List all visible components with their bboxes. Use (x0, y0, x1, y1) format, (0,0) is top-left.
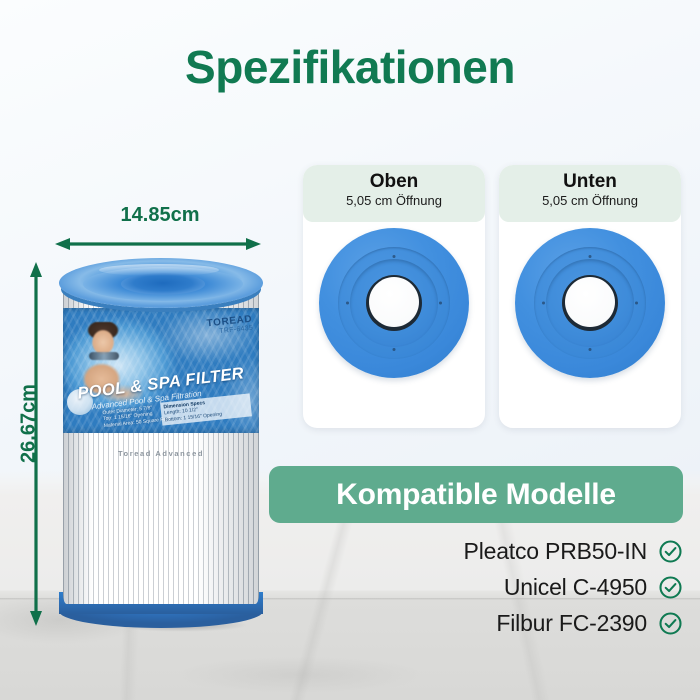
panel-unten-title: Unten (499, 171, 681, 193)
filter-endcap-icon-unten (515, 228, 665, 378)
width-dimension-arrow (55, 237, 261, 251)
label-swimmer-goggles (89, 352, 119, 360)
endcap-opening (369, 277, 419, 327)
endcap-screw-dot (589, 348, 592, 351)
panel-unten-header: Unten 5,05 cm Öffnung (499, 165, 681, 222)
list-item: Unicel C-4950 (300, 569, 683, 605)
endcap-screw-dot (589, 255, 592, 258)
panel-oben-subtitle: 5,05 cm Öffnung (303, 193, 485, 209)
height-dimension-label: 26.67cm (18, 369, 41, 479)
panel-oben-title: Oben (303, 171, 485, 193)
cartridge-body-print: Toread Advanced (63, 449, 259, 458)
check-circle-icon (658, 611, 683, 636)
check-circle-icon (658, 575, 683, 600)
panel-oben-header: Oben 5,05 cm Öffnung (303, 165, 485, 222)
endcap-screw-dot (635, 302, 638, 305)
endcap-screw-dot (393, 255, 396, 258)
cartridge-top-cap-ring-inner (121, 273, 205, 295)
panel-unten: Unten 5,05 cm Öffnung (499, 165, 681, 428)
check-circle-icon (658, 539, 683, 564)
compatible-models-list: Pleatco PRB50-IN Unicel C-4950 Filbur FC… (300, 533, 683, 641)
cartridge-top-cap-highlight (99, 264, 219, 276)
cartridge-top-cap (59, 258, 263, 308)
panel-oben: Oben 5,05 cm Öffnung (303, 165, 485, 428)
endcap-screw-dot (393, 348, 396, 351)
page-title: Spezifikationen (0, 44, 700, 90)
panel-unten-subtitle: 5,05 cm Öffnung (499, 193, 681, 209)
width-dimension-label: 14.85cm (52, 204, 268, 227)
filter-endcap-icon-oben (319, 228, 469, 378)
compatible-models-banner-text: Kompatible Modelle (336, 478, 616, 512)
endcap-opening (565, 277, 615, 327)
endcap-screw-dot (346, 302, 349, 305)
cartridge-product-label: TOREAD TRF-6435 POOL & SPA FILTER Advanc… (63, 308, 259, 433)
filter-cartridge-image: TOREAD TRF-6435 POOL & SPA FILTER Advanc… (57, 256, 265, 628)
specification-infographic: Spezifikationen 14.85cm 26.67cm TOREAD T… (0, 0, 700, 700)
model-name: Unicel C-4950 (504, 574, 647, 601)
compatible-models-banner: Kompatible Modelle (269, 466, 683, 523)
model-name: Filbur FC-2390 (496, 610, 647, 637)
model-name: Pleatco PRB50-IN (464, 538, 647, 565)
endcap-screw-dot (542, 302, 545, 305)
endcap-screw-dot (439, 302, 442, 305)
list-item: Filbur FC-2390 (300, 605, 683, 641)
list-item: Pleatco PRB50-IN (300, 533, 683, 569)
